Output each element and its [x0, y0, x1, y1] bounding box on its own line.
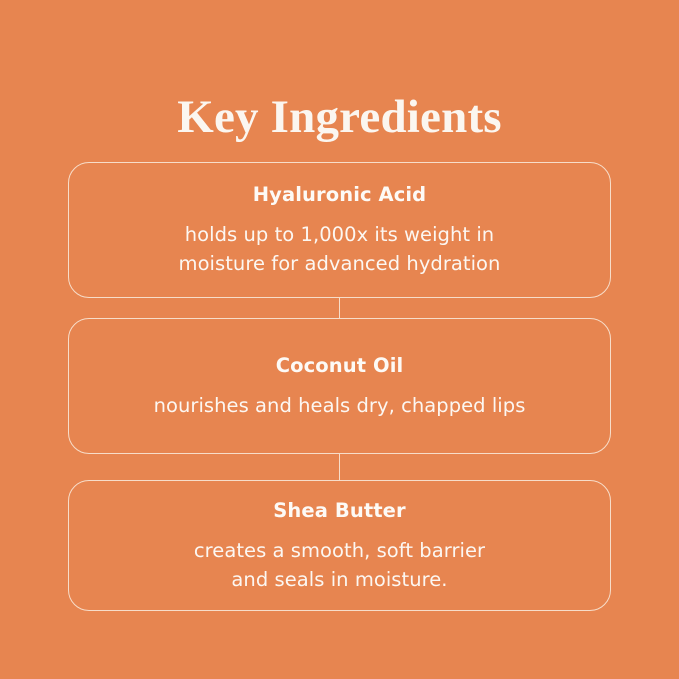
description-line: nourishes and heals dry, chapped lips	[154, 391, 526, 420]
description-line: and seals in moisture.	[194, 565, 485, 594]
ingredient-description: creates a smooth, soft barrier and seals…	[170, 536, 509, 594]
description-line: holds up to 1,000x its weight in	[179, 220, 501, 249]
ingredient-card-shea-butter: Shea Butter creates a smooth, soft barri…	[68, 480, 611, 611]
key-ingredients-infographic: Key Ingredients Hyaluronic Acid holds up…	[0, 0, 679, 679]
ingredient-card-coconut-oil: Coconut Oil nourishes and heals dry, cha…	[68, 318, 611, 454]
ingredient-description: holds up to 1,000x its weight in moistur…	[155, 220, 525, 278]
ingredient-description: nourishes and heals dry, chapped lips	[130, 391, 550, 420]
ingredient-card-hyaluronic-acid: Hyaluronic Acid holds up to 1,000x its w…	[68, 162, 611, 298]
ingredient-name: Shea Butter	[273, 498, 405, 524]
card-connector-line	[68, 454, 611, 480]
card-connector-line	[68, 298, 611, 318]
description-line: creates a smooth, soft barrier	[194, 536, 485, 565]
page-title: Key Ingredients	[0, 89, 679, 145]
ingredient-name: Hyaluronic Acid	[253, 182, 426, 208]
ingredient-name: Coconut Oil	[276, 353, 404, 379]
description-line: moisture for advanced hydration	[179, 249, 501, 278]
ingredient-card-stack: Hyaluronic Acid holds up to 1,000x its w…	[68, 162, 611, 611]
